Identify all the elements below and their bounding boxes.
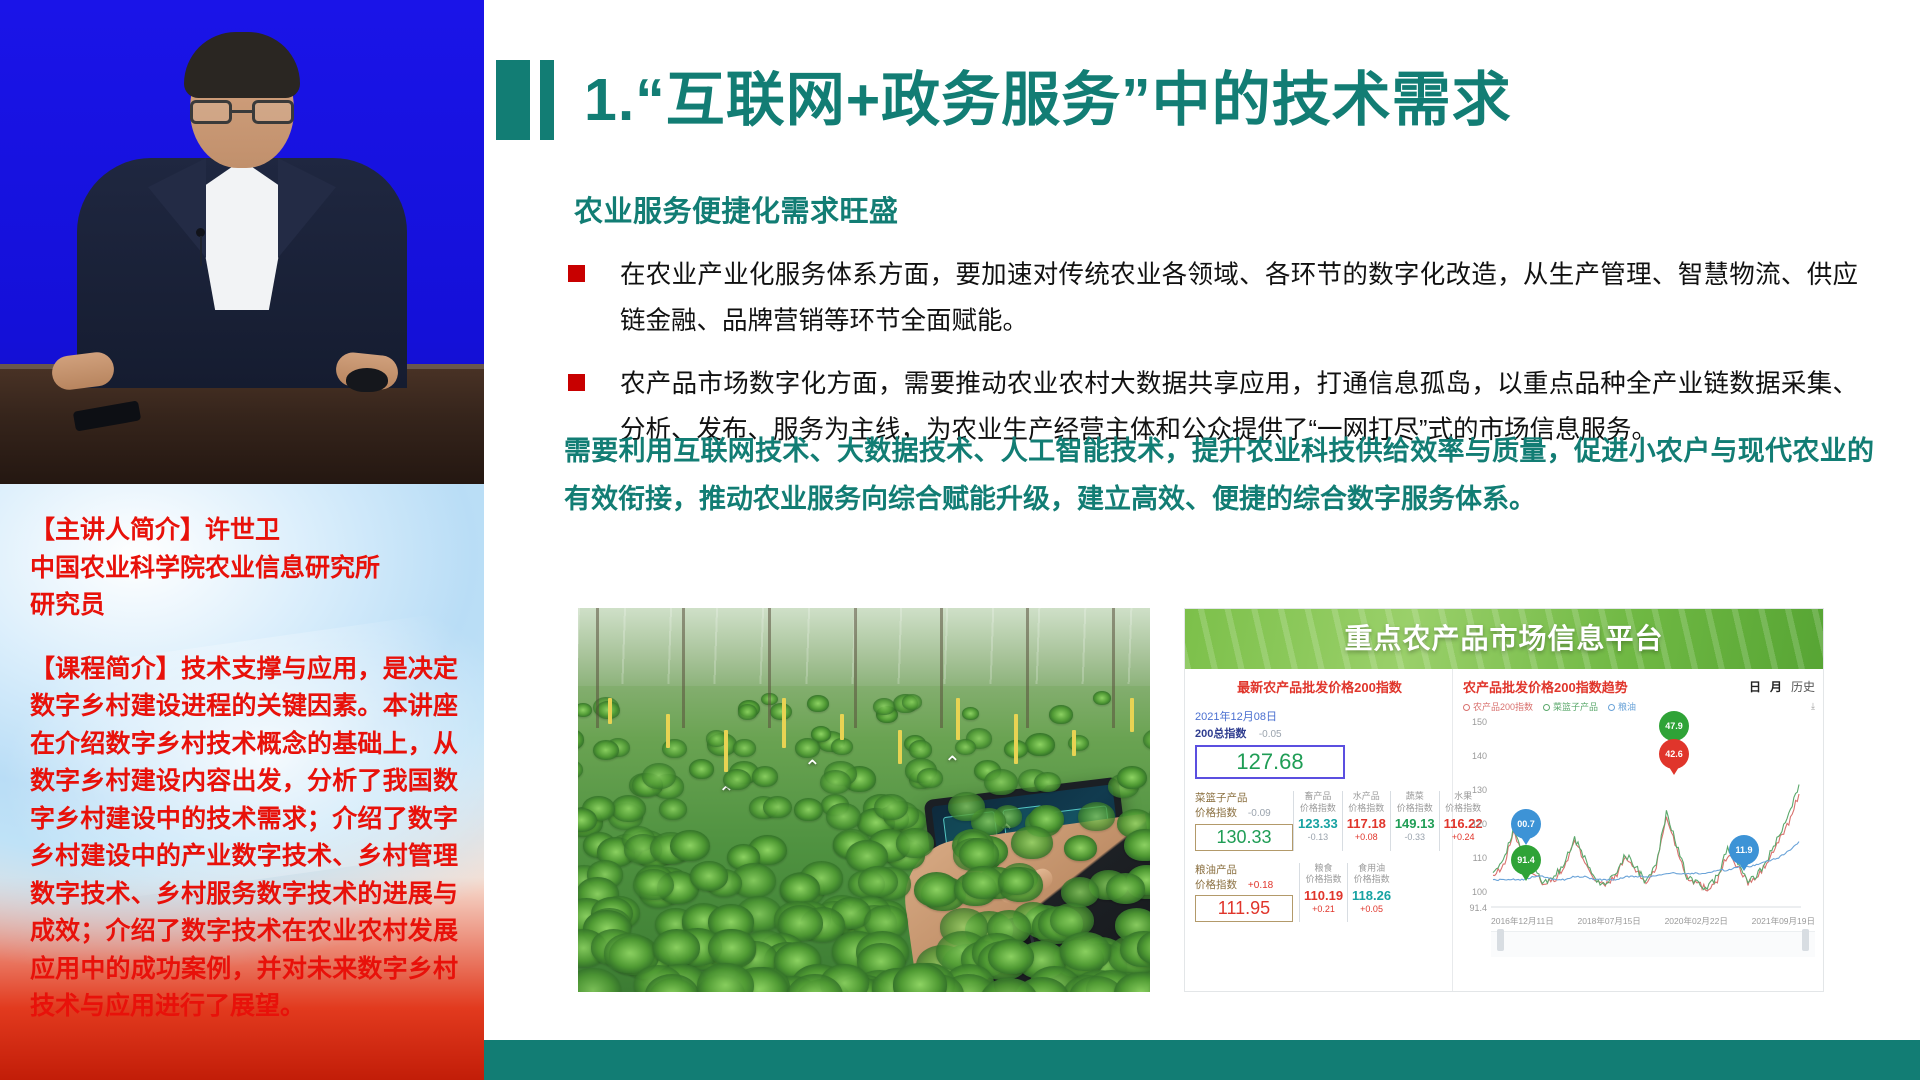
chart-title: 农产品批发价格200指数趋势 bbox=[1463, 677, 1628, 696]
lettuce-plant bbox=[873, 698, 895, 715]
lettuce-plant bbox=[896, 828, 935, 858]
chart-y-axis: 150 140 130 120 110 100 91.4 bbox=[1463, 717, 1489, 907]
lettuce-plant bbox=[1106, 873, 1145, 904]
plant-stake bbox=[1130, 698, 1134, 732]
lettuce-plant bbox=[1093, 691, 1111, 705]
lettuce-plant bbox=[917, 768, 943, 788]
lettuce-plant bbox=[690, 861, 728, 890]
bio-panel: 【主讲人简介】许世卫中国农业科学院农业信息研究所研究员 【课程简介】技术支撑与应… bbox=[0, 484, 484, 1080]
lettuce-plant bbox=[653, 929, 701, 966]
greenhouse-roof-beams bbox=[578, 608, 1150, 684]
plant-stake bbox=[1072, 730, 1076, 756]
cell-name-2: 价格指数 bbox=[1395, 803, 1435, 815]
greenhouse-frame-post bbox=[682, 608, 685, 728]
slide-footer-bar bbox=[484, 1040, 1920, 1080]
bullet-square-icon bbox=[568, 265, 585, 282]
cell-value: 118.26 bbox=[1352, 888, 1391, 903]
index-cell: 蔬菜 价格指数 149.13 -0.33 bbox=[1390, 791, 1439, 851]
lettuce-plant bbox=[611, 795, 646, 823]
lettuce-plant bbox=[807, 695, 829, 712]
speaker-video-panel bbox=[0, 0, 484, 484]
lettuce-plant bbox=[578, 703, 592, 717]
index-cell: 畜产品 价格指数 123.33 -0.13 bbox=[1293, 791, 1342, 851]
cell-value: 123.33 bbox=[1298, 816, 1338, 831]
lettuce-plant bbox=[1025, 733, 1054, 756]
lettuce-plant bbox=[578, 968, 621, 992]
lettuce-plant bbox=[948, 792, 985, 821]
cell-name: 粮食 bbox=[1304, 863, 1343, 875]
cell-name-2: 价格指数 bbox=[1352, 874, 1391, 886]
greenhouse-frame-post bbox=[1112, 608, 1115, 728]
left-column: 【主讲人简介】许世卫中国农业科学院农业信息研究所研究员 【课程简介】技术支撑与应… bbox=[0, 0, 484, 1080]
lettuce-plant bbox=[1060, 932, 1110, 971]
lettuce-plant bbox=[1143, 729, 1150, 750]
cell-value: 149.13 bbox=[1395, 816, 1435, 831]
market-dashboard-screenshot: 重点农产品市场信息平台 最新农产品批发价格200指数 2021年12月08日 2… bbox=[1184, 608, 1824, 992]
chart-legend: 农产品200指数 菜篮子产品 粮油 ⤓ bbox=[1463, 700, 1815, 713]
group-name-2: 价格指数 bbox=[1195, 807, 1237, 819]
computer-mouse bbox=[346, 368, 388, 392]
lettuce-plant bbox=[633, 869, 673, 901]
group-name: 菜篮子产品 bbox=[1195, 791, 1293, 806]
page-title: 1.“互联网+政务服务”中的技术需求 bbox=[584, 52, 1512, 148]
lettuce-plant bbox=[1061, 877, 1100, 907]
lettuce-plant bbox=[1078, 802, 1115, 831]
group-value: 130.33 bbox=[1195, 824, 1293, 851]
lettuce-plant bbox=[831, 738, 853, 755]
cell-value: 117.18 bbox=[1347, 816, 1386, 831]
index-group-grain-oil: 粮油产品 价格指数 +0.18 111.95 粮食 价格指数 110.19 +0… bbox=[1195, 863, 1444, 923]
cell-name-2: 价格指数 bbox=[1304, 874, 1343, 886]
lettuce-plant bbox=[733, 739, 756, 757]
chart-period-tabs: 日 月 历史 bbox=[1749, 678, 1815, 695]
plant-stake bbox=[840, 714, 844, 740]
tab-day[interactable]: 日 bbox=[1749, 678, 1761, 695]
plant-stake bbox=[898, 730, 902, 764]
cell-delta: +0.21 bbox=[1304, 904, 1343, 914]
speaker-bio-text: 【主讲人简介】许世卫中国农业科学院农业信息研究所研究员 bbox=[30, 512, 458, 625]
lettuce-plant bbox=[1064, 835, 1097, 861]
legend-item-200index: 农产品200指数 bbox=[1463, 700, 1533, 713]
greenhouse-frame-post bbox=[940, 608, 943, 728]
cell-name-2: 价格指数 bbox=[1298, 803, 1338, 815]
lettuce-plant bbox=[780, 873, 819, 904]
chart-annotation-green-low: 91.4 bbox=[1511, 845, 1541, 875]
lettuce-plant bbox=[1011, 826, 1053, 859]
lettuce-plant bbox=[998, 867, 1034, 895]
scrollbar-handle-right[interactable] bbox=[1802, 929, 1809, 951]
main-index-label: 200总指数 bbox=[1195, 725, 1246, 741]
lettuce-plant bbox=[1049, 705, 1074, 724]
group-delta: -0.09 bbox=[1248, 808, 1271, 819]
lettuce-plant bbox=[902, 694, 922, 710]
lettuce-plant bbox=[955, 739, 976, 756]
lettuce-plant bbox=[689, 759, 714, 778]
chart-range-scrollbar[interactable] bbox=[1491, 931, 1815, 957]
greenhouse-frame-post bbox=[768, 608, 771, 728]
chart-x-axis: 2016年12月11日 2018年07月15日 2020年02月22日 2021… bbox=[1491, 915, 1815, 927]
plant-stake bbox=[608, 698, 612, 724]
greenhouse-photo: ⌃ ⌃ ⌃ ⌃ ⌃ bbox=[578, 608, 1150, 992]
lettuce-plant bbox=[670, 830, 710, 861]
title-row: 1.“互联网+政务服务”中的技术需求 bbox=[484, 52, 1920, 148]
conclusion-paragraph: 需要利用互联网技术、大数据技术、人工智能技术，提升农业科技供给效率与质量，促进小… bbox=[564, 427, 1874, 523]
lettuce-plant bbox=[770, 703, 792, 720]
scrollbar-handle-left[interactable] bbox=[1497, 929, 1504, 951]
wifi-icon: ⌃ bbox=[944, 754, 961, 774]
legend-item-grain-oil: 粮油 bbox=[1608, 700, 1636, 713]
plant-stake bbox=[1014, 714, 1018, 764]
group-value: 111.95 bbox=[1195, 895, 1293, 922]
greenhouse-frame-post bbox=[854, 608, 857, 728]
lettuce-plant bbox=[723, 769, 751, 790]
plant-stake bbox=[666, 714, 670, 748]
cell-delta: +0.05 bbox=[1352, 904, 1391, 914]
lettuce-plant bbox=[794, 798, 823, 821]
section-subtitle: 农业服务便捷化需求旺盛 bbox=[574, 188, 899, 230]
lettuce-plant bbox=[858, 866, 898, 897]
dashboard-header: 重点农产品市场信息平台 bbox=[1185, 609, 1823, 669]
lettuce-plant bbox=[593, 740, 619, 760]
cell-name-2: 价格指数 bbox=[1347, 803, 1386, 815]
lettuce-plant bbox=[642, 763, 676, 789]
lettuce-plant bbox=[659, 798, 687, 820]
main-index-delta: -0.05 bbox=[1259, 729, 1282, 740]
index-cell: 水产品 价格指数 117.18 +0.08 bbox=[1342, 791, 1390, 851]
index-group-basket: 菜篮子产品 价格指数 -0.09 130.33 畜产品 价格指数 123.33 … bbox=[1195, 791, 1444, 851]
price-index-section-title: 最新农产品批发价格200指数 bbox=[1195, 677, 1444, 696]
legend-item-basket: 菜篮子产品 bbox=[1543, 700, 1598, 713]
bullet-square-icon bbox=[568, 374, 585, 391]
chart-annotation-blue-end: 11.9 bbox=[1729, 835, 1759, 865]
title-accent-bar-small bbox=[540, 60, 554, 140]
dashboard-title: 重点农产品市场信息平台 bbox=[1185, 609, 1823, 669]
download-icon[interactable]: ⤓ bbox=[1811, 701, 1815, 712]
group-name: 粮油产品 bbox=[1195, 863, 1299, 878]
lettuce-plant bbox=[959, 838, 999, 869]
lettuce-plant bbox=[763, 796, 792, 818]
tab-month[interactable]: 月 bbox=[1770, 678, 1782, 695]
list-item: 在农业产业化服务体系方面，要加速对传统农业各领域、各环节的数字化改造，从生产管理… bbox=[568, 252, 1858, 345]
cell-delta: -0.33 bbox=[1395, 832, 1435, 842]
index-date: 2021年12月08日 bbox=[1195, 708, 1444, 724]
lettuce-plant bbox=[752, 766, 778, 786]
index-cell: 食用油 价格指数 118.26 +0.05 bbox=[1347, 863, 1395, 923]
course-bio-text: 【课程简介】技术支撑与应用，是决定数字乡村建设进程的关键因素。本讲座在介绍数字乡… bbox=[30, 651, 458, 1026]
lettuce-plant bbox=[826, 803, 861, 830]
lettuce-plant bbox=[962, 707, 979, 720]
chart-annotation-green-peak: 47.9 bbox=[1659, 711, 1689, 741]
lettuce-plant bbox=[795, 738, 820, 757]
chart-plot-area: 150 140 130 120 110 100 91.4 47.9 bbox=[1463, 717, 1815, 913]
plant-stake bbox=[782, 698, 786, 748]
lettuce-plant bbox=[909, 740, 933, 759]
title-accent-bar-large bbox=[496, 60, 530, 140]
lettuce-plant bbox=[738, 704, 758, 719]
slide-area: 1.“互联网+政务服务”中的技术需求 农业服务便捷化需求旺盛 在农业产业化服务体… bbox=[484, 0, 1920, 1080]
cell-delta: -0.13 bbox=[1298, 832, 1338, 842]
lapel-microphone bbox=[196, 228, 205, 237]
lettuce-plant bbox=[914, 872, 959, 907]
greenhouse-frame-post bbox=[596, 608, 599, 728]
tab-history[interactable]: 历史 bbox=[1791, 678, 1815, 695]
trend-chart-panel: 农产品批发价格200指数趋势 日 月 历史 农产品200指数 菜篮子产品 bbox=[1453, 669, 1823, 992]
cell-delta: +0.08 bbox=[1347, 832, 1386, 842]
lettuce-plant bbox=[988, 939, 1034, 975]
group-name-2: 价格指数 bbox=[1195, 879, 1237, 891]
speaker-glasses bbox=[190, 100, 294, 126]
main-index-value: 127.68 bbox=[1195, 745, 1345, 779]
cell-name: 蔬菜 bbox=[1395, 791, 1435, 803]
group-delta: +0.18 bbox=[1248, 880, 1273, 891]
price-index-panel: 最新农产品批发价格200指数 2021年12月08日 200总指数 -0.05 … bbox=[1185, 669, 1453, 992]
cell-name: 畜产品 bbox=[1298, 791, 1338, 803]
plant-stake bbox=[956, 698, 960, 740]
chart-annotation-blue-start: 00.7 bbox=[1511, 809, 1541, 839]
wifi-icon: ⌃ bbox=[804, 758, 821, 778]
cell-value: 110.19 bbox=[1304, 888, 1343, 903]
lettuce-plant bbox=[578, 760, 583, 779]
lettuce-plant bbox=[1117, 766, 1147, 789]
lettuce-plant bbox=[984, 769, 1018, 795]
bullet-text: 在农业产业化服务体系方面，要加速对传统农业各领域、各环节的数字化改造，从生产管理… bbox=[620, 252, 1858, 345]
plant-stake bbox=[724, 730, 728, 772]
index-cell: 粮食 价格指数 110.19 +0.21 bbox=[1299, 863, 1347, 923]
lettuce-plant bbox=[708, 929, 756, 966]
lettuce-plant bbox=[578, 729, 584, 749]
chart-annotation-red-peak: 42.6 bbox=[1659, 739, 1689, 769]
lettuce-plant bbox=[820, 770, 851, 794]
cell-name: 食用油 bbox=[1352, 863, 1391, 875]
greenhouse-frame-post bbox=[1026, 608, 1029, 728]
cell-name: 水产品 bbox=[1347, 791, 1386, 803]
lettuce-plant bbox=[874, 794, 908, 820]
lettuce-plant bbox=[1034, 772, 1061, 793]
